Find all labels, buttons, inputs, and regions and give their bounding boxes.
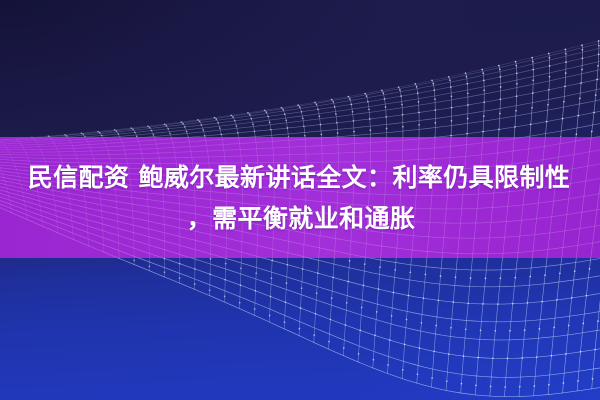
title-line-1: 民信配资 鲍威尔最新讲话全文：利率仍具限制性 bbox=[28, 157, 571, 198]
title-banner: 民信配资 鲍威尔最新讲话全文：利率仍具限制性 ，需平衡就业和通胀 bbox=[0, 137, 600, 258]
banner-image: 民信配资 鲍威尔最新讲话全文：利率仍具限制性 ，需平衡就业和通胀 bbox=[0, 0, 600, 400]
banner-text-block: 民信配资 鲍威尔最新讲话全文：利率仍具限制性 ，需平衡就业和通胀 bbox=[0, 137, 600, 258]
title-line-2: ，需平衡就业和通胀 bbox=[187, 198, 416, 239]
